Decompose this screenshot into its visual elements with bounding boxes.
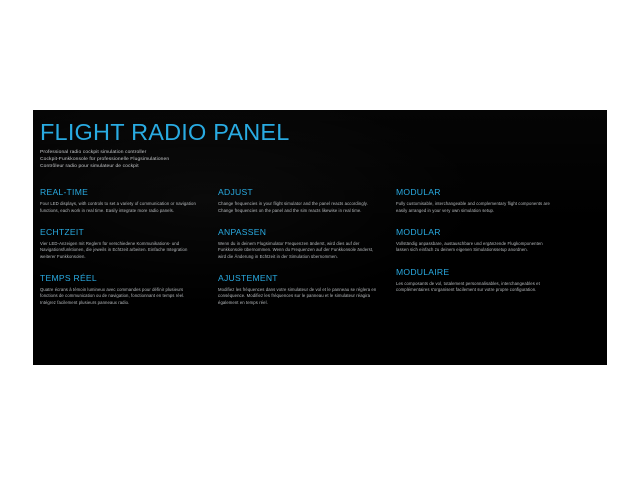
feature-body: Vollständig anpassbare, austauschbare un… <box>396 241 554 253</box>
feature-title: TEMPS RÉEL <box>40 273 218 284</box>
feature-block: ANPASSEN Wenn du in deinem Flugsimulator… <box>218 227 396 259</box>
product-info-panel: FLIGHT RADIO PANEL Professional radio co… <box>33 110 607 365</box>
feature-body: Wenn du in deinem Flugsimulator Frequenz… <box>218 241 378 259</box>
feature-title: MODULAR <box>396 227 574 238</box>
feature-body: Fully customisable, interchangeable and … <box>396 201 554 213</box>
subtitle-line-de: Cockpit-Funkkonsole für professionelle F… <box>40 156 595 163</box>
feature-title: MODULAIRE <box>396 267 574 278</box>
subtitle-group: Professional radio cockpit simulation co… <box>40 149 595 170</box>
feature-columns: REAL-TIME Four LED displays, with contro… <box>40 187 595 305</box>
feature-block: MODULAR Vollständig anpassbare, austausc… <box>396 227 574 253</box>
feature-title: AJUSTEMENT <box>218 273 396 284</box>
feature-block: MODULAR Fully customisable, interchangea… <box>396 187 574 213</box>
panel-content: FLIGHT RADIO PANEL Professional radio co… <box>33 110 607 306</box>
feature-block: ADJUST Change frequencies in your flight… <box>218 187 396 213</box>
feature-body: Les composants de vol, totalement person… <box>396 281 554 293</box>
feature-block: MODULAIRE Les composants de vol, totalem… <box>396 267 574 293</box>
feature-title: ECHTZEIT <box>40 227 218 238</box>
feature-column-real-time: REAL-TIME Four LED displays, with contro… <box>40 187 218 305</box>
feature-block: REAL-TIME Four LED displays, with contro… <box>40 187 218 213</box>
feature-title: REAL-TIME <box>40 187 218 198</box>
feature-body: Vier LED-Anzeigen mit Reglern für versch… <box>40 241 200 259</box>
feature-body: Four LED displays, with controls to set … <box>40 201 200 213</box>
page-title: FLIGHT RADIO PANEL <box>40 119 595 145</box>
feature-column-modular: MODULAR Fully customisable, interchangea… <box>396 187 574 305</box>
subtitle-line-en: Professional radio cockpit simulation co… <box>40 149 595 156</box>
feature-block: TEMPS RÉEL Quatre écrans à témoin lumine… <box>40 273 218 305</box>
page-canvas: FLIGHT RADIO PANEL Professional radio co… <box>0 0 640 480</box>
feature-body: Modifiez les fréquences dans votre simul… <box>218 287 378 305</box>
feature-title: MODULAR <box>396 187 574 198</box>
feature-body: Quatre écrans à témoin lumineux avec com… <box>40 287 200 305</box>
feature-column-adjust: ADJUST Change frequencies in your flight… <box>218 187 396 305</box>
feature-title: ANPASSEN <box>218 227 396 238</box>
feature-block: AJUSTEMENT Modifiez les fréquences dans … <box>218 273 396 305</box>
feature-title: ADJUST <box>218 187 396 198</box>
subtitle-line-fr: Contrôleur radio pour simulateur de cock… <box>40 163 595 170</box>
feature-body: Change frequencies in your flight simula… <box>218 201 378 213</box>
feature-block: ECHTZEIT Vier LED-Anzeigen mit Reglern f… <box>40 227 218 259</box>
